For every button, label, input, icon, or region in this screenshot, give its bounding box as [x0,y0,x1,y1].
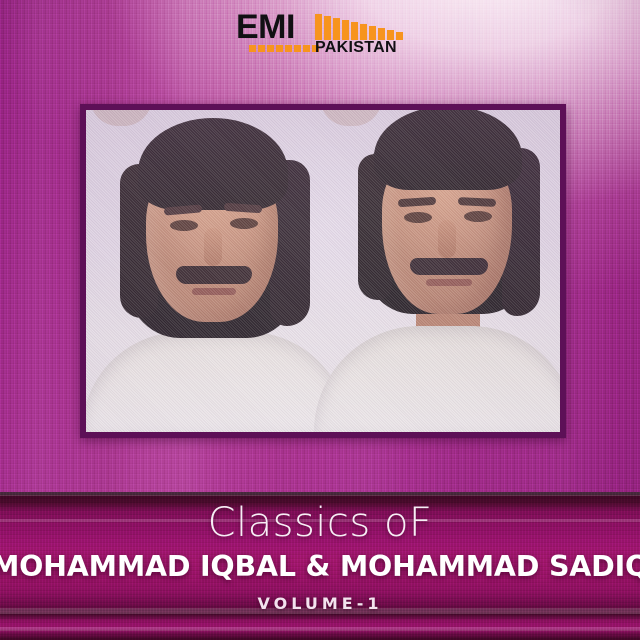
logo-inner: EMI PAKISTAN [236,12,404,60]
eye-right [230,218,258,229]
shirt [86,332,348,432]
emi-bar-1 [315,14,322,40]
album-volume: VOLUME-1 [258,595,383,613]
hair-top [138,118,288,210]
emi-wordmark: EMI [236,10,295,44]
emi-bar-3 [333,18,340,40]
emi-bar-2 [324,16,331,40]
emi-bar-4 [342,20,349,40]
emi-underline-dots-icon [249,43,319,52]
emi-bar-5 [351,22,358,40]
eye-left [170,220,198,231]
album-cover: EMI PAKISTAN [0,0,640,640]
emi-country-label: PAKISTAN [315,40,397,56]
mustache [176,266,252,284]
emi-dot-6 [294,45,301,52]
mouth [192,288,236,295]
chin-shading [320,110,382,126]
emi-dot-2 [258,45,265,52]
hair-top [374,110,522,190]
album-artists: MOHAMMAD IQBAL & MOHAMMAD SADIQ [0,550,640,584]
person-left-mohammad-iqbal [90,110,340,432]
artist-photograph [86,110,560,432]
emi-dot-7 [303,45,310,52]
mustache [410,258,488,275]
mouth [426,279,472,286]
emi-bar-6 [360,24,367,40]
emi-pakistan-logo: EMI PAKISTAN [0,12,640,60]
nose [204,228,222,266]
emi-dot-5 [285,45,292,52]
eye-right [464,211,492,222]
emi-dot-1 [249,45,256,52]
nose [438,220,456,258]
emi-bar-7 [369,26,376,40]
person-right-mohammad-sadiq [320,110,560,432]
chin-shading [90,110,152,126]
photo-frame [80,104,566,438]
title-banner: Classics oF MOHAMMAD IQBAL & MOHAMMAD SA… [0,492,640,640]
album-subtitle: Classics oF [208,500,433,546]
banner-text-block: Classics oF MOHAMMAD IQBAL & MOHAMMAD SA… [0,492,640,640]
eye-left [404,212,432,223]
shirt [314,326,560,432]
emi-bar-10 [396,32,403,40]
emi-dot-3 [267,45,274,52]
emi-equalizer-bars-icon [315,14,403,40]
emi-dot-4 [276,45,283,52]
